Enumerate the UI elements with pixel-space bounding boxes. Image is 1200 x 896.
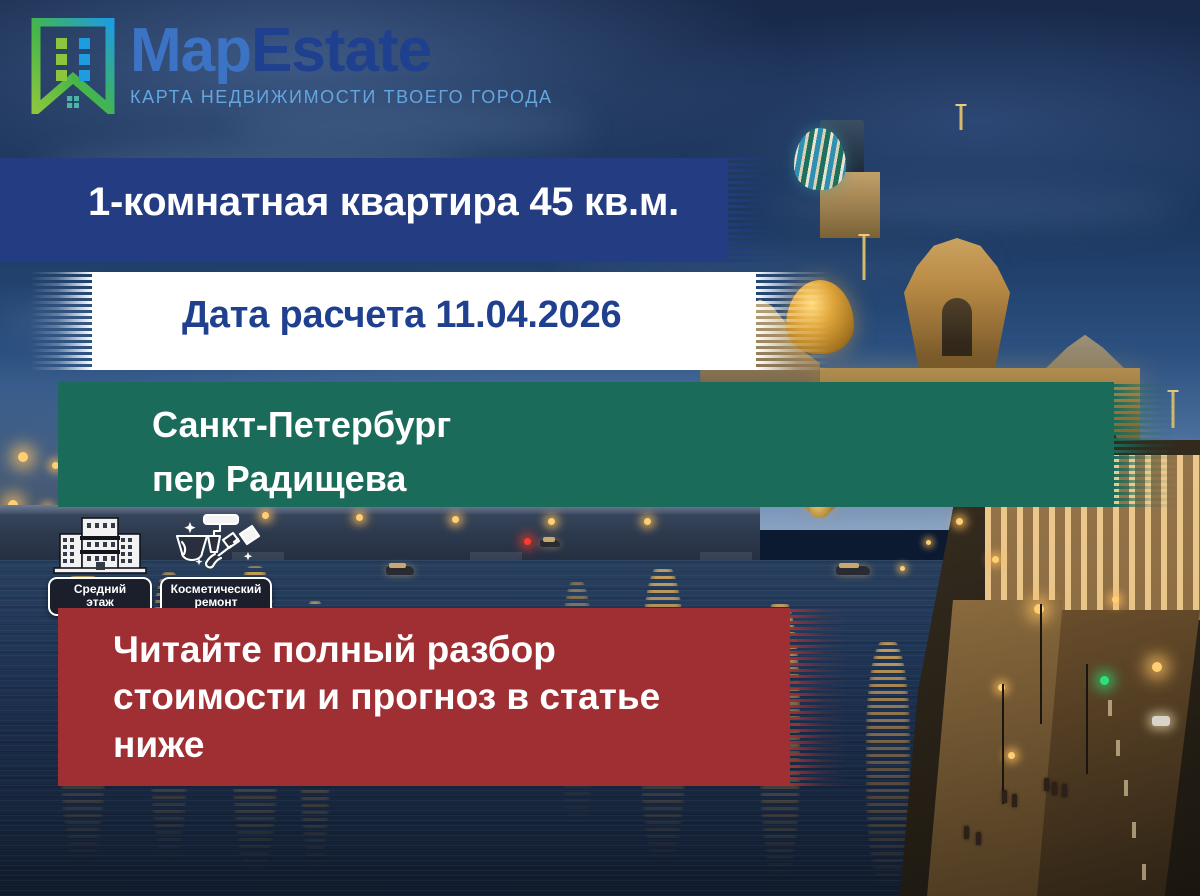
badge-middle-floor[interactable]: Средний этаж bbox=[48, 512, 152, 616]
badge-cosmetic-renovation[interactable]: Косметический ремонт bbox=[164, 512, 268, 616]
map-pin-building-bookmark-icon bbox=[30, 18, 116, 114]
title-band: 1-комнатная квартира 45 кв.м. bbox=[0, 158, 790, 262]
page-title: 1-комнатная квартира 45 кв.м. bbox=[88, 180, 768, 225]
cta-text: Читайте полный разбор стоимости и прогно… bbox=[113, 626, 753, 768]
address-band: Санкт-Петербург пер Радищева bbox=[58, 382, 1178, 507]
brand-wordmark: MapEstate КАРТА НЕДВИЖИМОСТИ ТВОЕГО ГОРО… bbox=[130, 18, 553, 108]
brand-logo[interactable]: MapEstate КАРТА НЕДВИЖИМОСТИ ТВОЕГО ГОРО… bbox=[30, 18, 553, 114]
calculation-date: Дата расчета 11.04.2026 bbox=[182, 294, 622, 337]
poster-canvas: MapEstate КАРТА НЕДВИЖИМОСТИ ТВОЕГО ГОРО… bbox=[0, 0, 1200, 896]
car bbox=[1152, 716, 1170, 726]
address-street: пер Радищева bbox=[152, 452, 451, 506]
date-band: Дата расчета 11.04.2026 bbox=[30, 272, 830, 370]
brand-name-part1: Map bbox=[130, 16, 251, 85]
cta-band: Читайте полный разбор стоимости и прогно… bbox=[58, 608, 848, 786]
brand-name-part2: Estate bbox=[251, 16, 431, 85]
address-city: Санкт-Петербург bbox=[152, 398, 451, 452]
brand-tagline: КАРТА НЕДВИЖИМОСТИ ТВОЕГО ГОРОДА bbox=[130, 87, 553, 108]
apartment-building-icon bbox=[52, 512, 148, 574]
cloud bbox=[230, 110, 590, 144]
traffic-light-green bbox=[1100, 676, 1109, 685]
paint-roller-brush-icon bbox=[168, 512, 264, 574]
address-text: Санкт-Петербург пер Радищева bbox=[152, 398, 451, 506]
feature-badges: Средний этаж bbox=[48, 512, 268, 616]
